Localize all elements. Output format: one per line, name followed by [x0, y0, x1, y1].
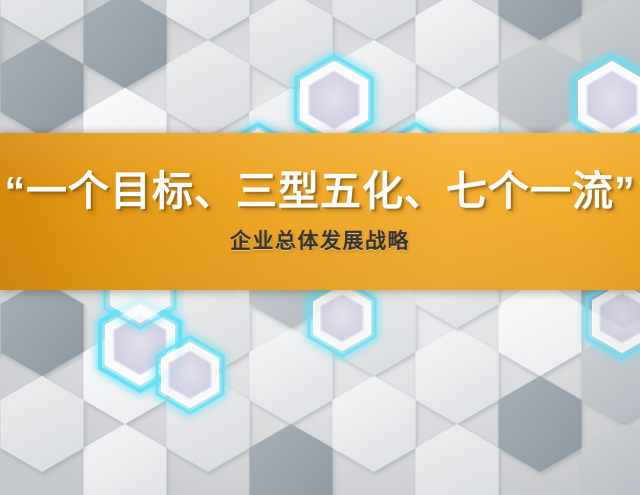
page-subtitle: 企业总体发展战略 — [230, 230, 410, 253]
page-title: “一个目标、三型五化、七个一流” — [5, 170, 636, 213]
title-banner: “一个目标、三型五化、七个一流” 企业总体发展战略 — [0, 133, 640, 290]
slide-canvas: “一个目标、三型五化、七个一流” 企业总体发展战略 — [0, 0, 640, 495]
